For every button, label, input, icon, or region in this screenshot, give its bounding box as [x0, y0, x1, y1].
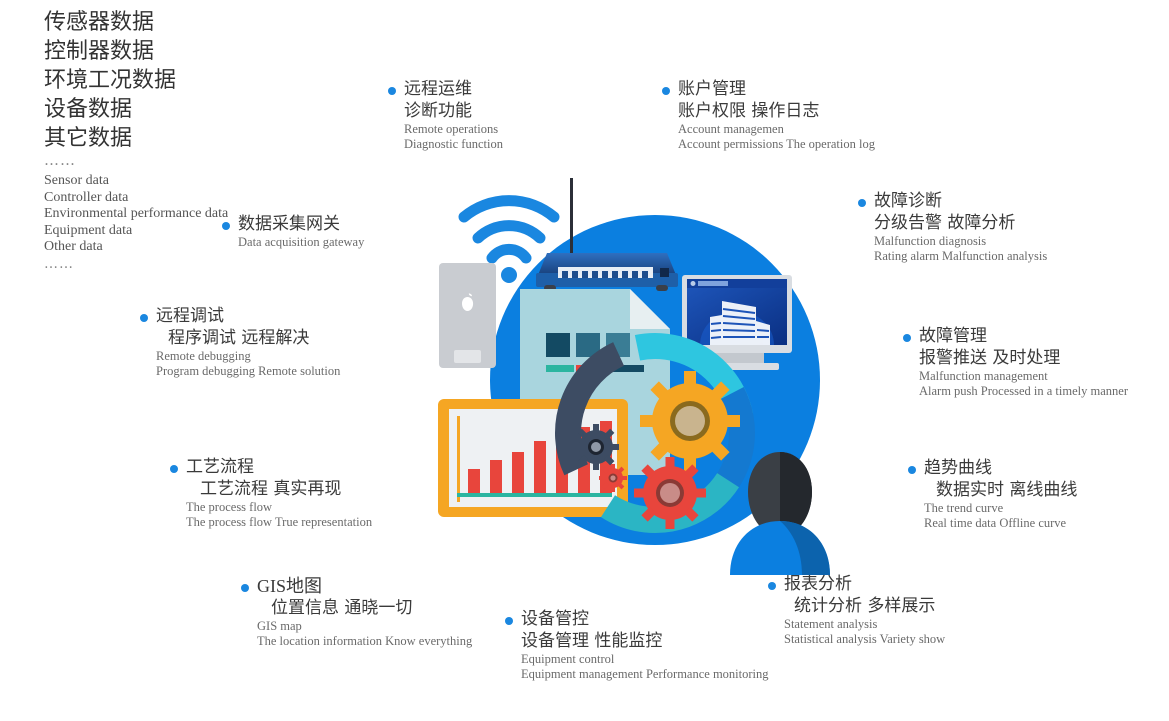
gear-tiny-red — [599, 464, 627, 492]
callout-en-line1: Remote operations — [404, 122, 503, 137]
callout-gis-map[interactable]: GIS地图 位置信息 通晓一切 GIS map The location inf… — [241, 575, 472, 649]
callout-cn-line2: 分级告警 故障分析 — [874, 212, 1047, 234]
bullet-dot-icon — [903, 334, 911, 342]
callout-cn-line1: 远程运维 — [404, 78, 503, 100]
callout-en-line2: Diagnostic function — [404, 137, 503, 152]
data-source-list: 传感器数据 控制器数据 环境工况数据 设备数据 其它数据 …… Sensor d… — [44, 8, 228, 272]
callout-cn-line1: 远程调试 — [156, 305, 340, 327]
callout-en-line2: The location information Know everything — [257, 634, 472, 649]
infographic-canvas: 传感器数据 控制器数据 环境工况数据 设备数据 其它数据 …… Sensor d… — [0, 0, 1169, 721]
callout-cn-line1: 工艺流程 — [186, 456, 372, 478]
callout-cn-line2: 账户权限 操作日志 — [678, 100, 875, 122]
wifi-dot-icon — [501, 267, 517, 283]
callout-malfunction-diagnosis[interactable]: 故障诊断 分级告警 故障分析 Malfunction diagnosis Rat… — [858, 190, 1047, 264]
callout-process-flow[interactable]: 工艺流程 工艺流程 真实再现 The process flow The proc… — [170, 456, 372, 530]
callout-cn-line1: 报表分析 — [784, 573, 945, 595]
callout-malfunction-management[interactable]: 故障管理 报警推送 及时处理 Malfunction management Al… — [903, 325, 1128, 399]
bullet-dot-icon — [388, 87, 396, 95]
monitor-title-text — [698, 281, 728, 286]
callout-en-line2: Statistical analysis Variety show — [784, 632, 945, 647]
callout-en-line2: Rating alarm Malfunction analysis — [874, 249, 1047, 264]
data-source-cn-3: 设备数据 — [44, 95, 228, 124]
callout-en-line1: GIS map — [257, 619, 472, 634]
callout-cn-line1: 故障诊断 — [874, 190, 1047, 212]
data-source-en-1: Controller data — [44, 190, 228, 207]
data-source-cn-ellipsis: …… — [44, 153, 228, 167]
callout-remote-operations[interactable]: 远程运维 诊断功能 Remote operations Diagnostic f… — [388, 78, 503, 152]
callout-en-line2: Equipment management Performance monitor… — [521, 667, 769, 682]
tablet-device-icon — [439, 263, 496, 368]
callout-data-acquisition-gateway[interactable]: 数据采集网关 Data acquisition gateway — [222, 213, 364, 250]
central-illustration — [420, 175, 880, 575]
callout-en-line1: Statement analysis — [784, 617, 945, 632]
callout-cn-line1: 故障管理 — [919, 325, 1128, 347]
callout-en-line1: The process flow — [186, 500, 372, 515]
callout-cn-line1: 设备管控 — [521, 608, 769, 630]
callout-en-line1: Malfunction management — [919, 369, 1128, 384]
callout-en-line1: The trend curve — [924, 501, 1077, 516]
bullet-dot-icon — [222, 222, 230, 230]
callout-account-management[interactable]: 账户管理 账户权限 操作日志 Account managemen Account… — [662, 78, 875, 152]
bullet-dot-icon — [662, 87, 670, 95]
callout-cn-line2: 工艺流程 真实再现 — [186, 478, 372, 500]
bullet-dot-icon — [241, 584, 249, 592]
data-source-cn-1: 控制器数据 — [44, 37, 228, 66]
callout-remote-debugging[interactable]: 远程调试 程序调试 远程解决 Remote debugging Program … — [140, 305, 340, 379]
callout-en-line2: Real time data Offline curve — [924, 516, 1077, 531]
data-source-cn-0: 传感器数据 — [44, 8, 228, 37]
data-source-en-2: Environmental performance data — [44, 206, 228, 223]
data-source-cn-2: 环境工况数据 — [44, 66, 228, 95]
callout-cn-line2: 报警推送 及时处理 — [919, 347, 1128, 369]
callout-cn-line2: 程序调试 远程解决 — [156, 327, 340, 349]
callout-en-line1: Malfunction diagnosis — [874, 234, 1047, 249]
callout-statement-analysis[interactable]: 报表分析 统计分析 多样展示 Statement analysis Statis… — [768, 573, 945, 647]
callout-en-line1: Equipment control — [521, 652, 769, 667]
gear-large-orange — [640, 371, 740, 471]
bullet-dot-icon — [140, 314, 148, 322]
callout-en-line1: Remote debugging — [156, 349, 340, 364]
callout-cn-line2: 位置信息 通晓一切 — [257, 597, 472, 619]
callout-en-line2: Program debugging Remote solution — [156, 364, 340, 379]
bullet-dot-icon — [768, 582, 776, 590]
callout-en-line2: Alarm push Processed in a timely manner — [919, 384, 1128, 399]
callout-en-line2: The process flow True representation — [186, 515, 372, 530]
callout-en-line2: Account permissions The operation log — [678, 137, 875, 152]
callout-cn-line2: 数据实时 离线曲线 — [924, 479, 1077, 501]
callout-en-line1: Data acquisition gateway — [238, 235, 364, 250]
data-source-en-ellipsis: …… — [44, 256, 228, 272]
gear-medium-red — [634, 457, 706, 529]
callout-equipment-control[interactable]: 设备管控 设备管理 性能监控 Equipment control Equipme… — [505, 608, 769, 682]
data-source-en-4: Other data — [44, 239, 228, 256]
bullet-dot-icon — [908, 466, 916, 474]
data-source-en-0: Sensor data — [44, 173, 228, 190]
callout-cn-line1: 账户管理 — [678, 78, 875, 100]
wifi-icon — [464, 201, 554, 258]
callout-cn-line2: 统计分析 多样展示 — [784, 595, 945, 617]
callout-cn-line1: 数据采集网关 — [238, 213, 364, 235]
callout-cn-line1: 趋势曲线 — [924, 457, 1077, 479]
gear-small-navy — [573, 424, 619, 470]
data-source-en-3: Equipment data — [44, 223, 228, 240]
callout-en-line1: Account managemen — [678, 122, 875, 137]
callout-cn-line2: 诊断功能 — [404, 100, 503, 122]
callout-cn-line2: 设备管理 性能监控 — [521, 630, 769, 652]
data-source-cn-4: 其它数据 — [44, 124, 228, 153]
callout-cn-line1: GIS地图 — [257, 575, 472, 597]
bullet-dot-icon — [170, 465, 178, 473]
bullet-dot-icon — [505, 617, 513, 625]
callout-trend-curve[interactable]: 趋势曲线 数据实时 离线曲线 The trend curve Real time… — [908, 457, 1077, 531]
